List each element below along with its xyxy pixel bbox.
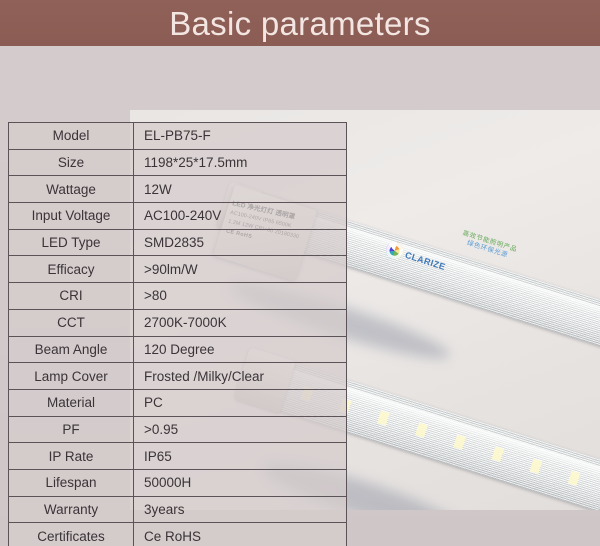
- spec-value: 1198*25*17.5mm: [134, 149, 347, 176]
- specification-table: ModelEL-PB75-FSize1198*25*17.5mmWattage1…: [8, 122, 347, 546]
- spec-value: Frosted /Milky/Clear: [134, 363, 347, 390]
- spec-label: Size: [9, 149, 134, 176]
- table-row: Lamp CoverFrosted /Milky/Clear: [9, 363, 347, 390]
- spec-value: EL-PB75-F: [134, 123, 347, 150]
- spec-value: SMD2835: [134, 229, 347, 256]
- spec-value: 2700K-7000K: [134, 309, 347, 336]
- spec-value: 50000H: [134, 469, 347, 496]
- table-row: CRI>80: [9, 283, 347, 310]
- table-row: Input VoltageAC100-240V: [9, 203, 347, 230]
- spec-label: Material: [9, 389, 134, 416]
- spec-label: PF: [9, 416, 134, 443]
- spec-label: CRI: [9, 283, 134, 310]
- spec-label: LED Type: [9, 229, 134, 256]
- table-row: Size1198*25*17.5mm: [9, 149, 347, 176]
- spec-label: Lamp Cover: [9, 363, 134, 390]
- spec-value: 3years: [134, 496, 347, 523]
- spec-label: Model: [9, 123, 134, 150]
- spec-value: Ce RoHS: [134, 523, 347, 546]
- table-row: IP RateIP65: [9, 443, 347, 470]
- table-row: ModelEL-PB75-F: [9, 123, 347, 150]
- spec-label: Input Voltage: [9, 203, 134, 230]
- spec-label: Beam Angle: [9, 336, 134, 363]
- spec-value: IP65: [134, 443, 347, 470]
- table-row: Beam Angle120 Degree: [9, 336, 347, 363]
- spec-label: Lifespan: [9, 469, 134, 496]
- spec-value: >0.95: [134, 416, 347, 443]
- table-row: LED TypeSMD2835: [9, 229, 347, 256]
- spec-label: Efficacy: [9, 256, 134, 283]
- header-band: Basic parameters: [0, 0, 600, 46]
- spec-value: PC: [134, 389, 347, 416]
- table-row: Lifespan50000H: [9, 469, 347, 496]
- table-row: Efficacy>90lm/W: [9, 256, 347, 283]
- spec-label: Wattage: [9, 176, 134, 203]
- table-row: Warranty3years: [9, 496, 347, 523]
- spec-label: IP Rate: [9, 443, 134, 470]
- spec-value: AC100-240V: [134, 203, 347, 230]
- table-row: PF>0.95: [9, 416, 347, 443]
- table-row: CertificatesCe RoHS: [9, 523, 347, 546]
- spec-label: Certificates: [9, 523, 134, 546]
- spec-label: CCT: [9, 309, 134, 336]
- table-row: CCT2700K-7000K: [9, 309, 347, 336]
- spec-value: 12W: [134, 176, 347, 203]
- product-spec-page: Basic parameters CLARIZE 高效节能照明产品 绿色环保光源: [0, 0, 600, 546]
- table-row: MaterialPC: [9, 389, 347, 416]
- spec-value: >90lm/W: [134, 256, 347, 283]
- spec-label: Warranty: [9, 496, 134, 523]
- spec-value: >80: [134, 283, 347, 310]
- spec-value: 120 Degree: [134, 336, 347, 363]
- page-title: Basic parameters: [169, 7, 431, 41]
- table-row: Wattage12W: [9, 176, 347, 203]
